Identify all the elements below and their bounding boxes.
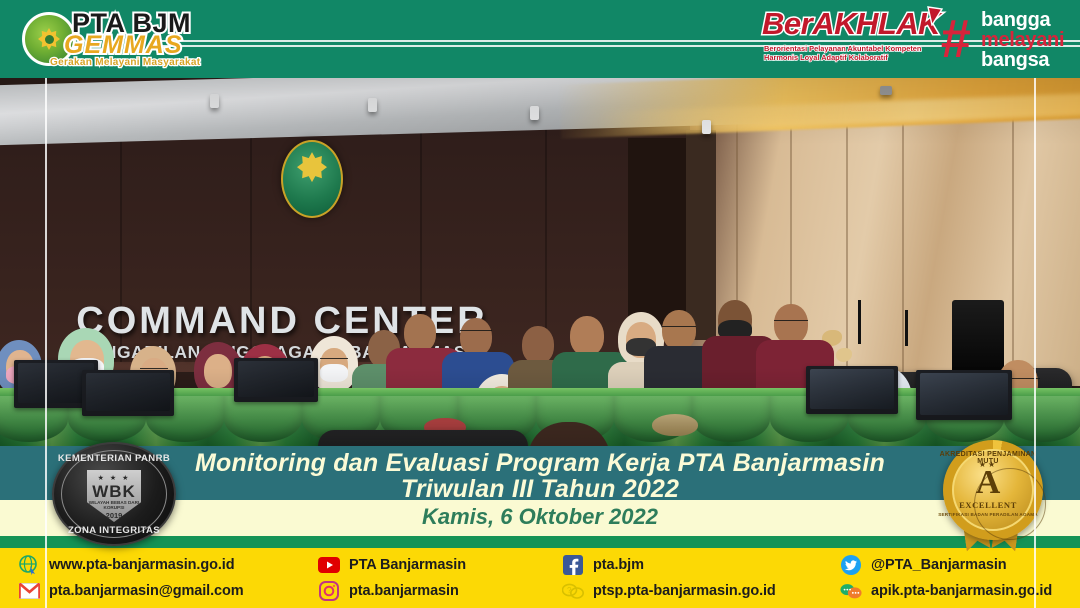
poster-root: PTA BJM GEMMAS Gerakan Melayani Masyarak… <box>0 0 1080 608</box>
gemmas-logo: PTA BJM GEMMAS Gerakan Melayani Masyarak… <box>14 4 204 72</box>
bangga-line3: bangsa <box>981 50 1064 70</box>
logo-line3: Gerakan Melayani Masyarakat <box>50 57 200 68</box>
bangga-line2: melayani <box>981 30 1064 50</box>
decorative-line-right <box>1034 78 1036 608</box>
chat-icon <box>840 580 862 602</box>
footer-item-youtube[interactable]: PTA Banjarmasin <box>318 554 466 576</box>
akreditasi-label: EXCELLENT <box>938 500 1038 510</box>
svg-text:?: ? <box>567 586 572 595</box>
laptop <box>82 370 174 416</box>
footer-item-website[interactable]: www.pta-banjarmasin.go.id <box>18 554 234 576</box>
footer-bar: www.pta-banjarmasin.go.id pta.banjarmasi… <box>0 548 1080 608</box>
footer-item-apik[interactable]: apik.pta-banjarmasin.go.id <box>840 580 1052 602</box>
footer-label: ptsp.pta-banjarmasin.go.id <box>593 583 776 599</box>
ptsp-icon: ? <box>562 580 584 602</box>
berakhlak-logo: BerAKHLAK Berorientasi Pelayanan Akuntab… <box>762 8 942 66</box>
youtube-icon <box>318 554 340 576</box>
doorway <box>628 138 686 338</box>
wall-seal-icon <box>281 140 343 218</box>
footer-item-twitter[interactable]: @PTA_Banjarmasin <box>840 554 1007 576</box>
wbk-badge: KEMENTERIAN PANRB ★ ★ ★ WBK WILAYAH BEBA… <box>52 442 176 546</box>
akreditasi-bottom-text: SERTIFIKASI BADAN PERADILAN AGAMA <box>938 512 1038 517</box>
akreditasi-grade: A <box>938 466 1038 500</box>
globe-icon <box>18 554 40 576</box>
laptop <box>234 358 318 402</box>
footer-label: apik.pta-banjarmasin.go.id <box>871 583 1052 599</box>
footer-item-ptsp[interactable]: ? ptsp.pta-banjarmasin.go.id <box>562 580 776 602</box>
twitter-icon <box>840 554 862 576</box>
laptop <box>916 370 1012 420</box>
wbk-bottom-text: ZONA INTEGRITAS <box>54 525 174 536</box>
wbk-stars: ★ ★ ★ <box>87 474 141 482</box>
footer-label: @PTA_Banjarmasin <box>871 557 1007 573</box>
wbk-center-text: WBK <box>87 482 141 502</box>
facebook-icon <box>562 554 584 576</box>
laptop <box>806 366 898 414</box>
meeting-room-photo: COMMAND CENTER PENGADILAN TINGGI AGAMA B… <box>0 78 1080 450</box>
instagram-icon <box>318 580 340 602</box>
gmail-icon <box>18 580 40 602</box>
footer-label: www.pta-banjarmasin.go.id <box>49 557 234 573</box>
wbk-top-text: KEMENTERIAN PANRB <box>54 453 174 464</box>
bangga-line1: bangga <box>981 10 1064 30</box>
header-bar: PTA BJM GEMMAS Gerakan Melayani Masyarak… <box>0 0 1080 78</box>
footer-label: PTA Banjarmasin <box>349 557 466 573</box>
berakhlak-subtitle: Berorientasi Pelayanan Akuntabel Kompete… <box>764 44 942 62</box>
berakhlak-title: BerAKHLAK <box>762 8 942 40</box>
hash-icon: # <box>940 12 970 66</box>
footer-item-facebook[interactable]: pta.bjm <box>562 554 644 576</box>
footer-label: pta.banjarmasin <box>349 583 459 599</box>
decorative-line-left <box>45 78 47 608</box>
footer-label: pta.banjarmasin@gmail.com <box>49 583 244 599</box>
akreditasi-badge: AKREDITASI PENJAMINAN MUTU ★★ A EXCELLEN… <box>938 438 1048 550</box>
footer-label: pta.bjm <box>593 557 644 573</box>
footer-item-instagram[interactable]: pta.banjarmasin <box>318 580 459 602</box>
bangga-melayani-bangsa-logo: # bangga melayani bangsa <box>940 4 1075 74</box>
logo-line2: GEMMAS <box>64 31 183 60</box>
green-divider <box>0 536 1080 548</box>
footer-item-email[interactable]: pta.banjarmasin@gmail.com <box>18 580 244 602</box>
